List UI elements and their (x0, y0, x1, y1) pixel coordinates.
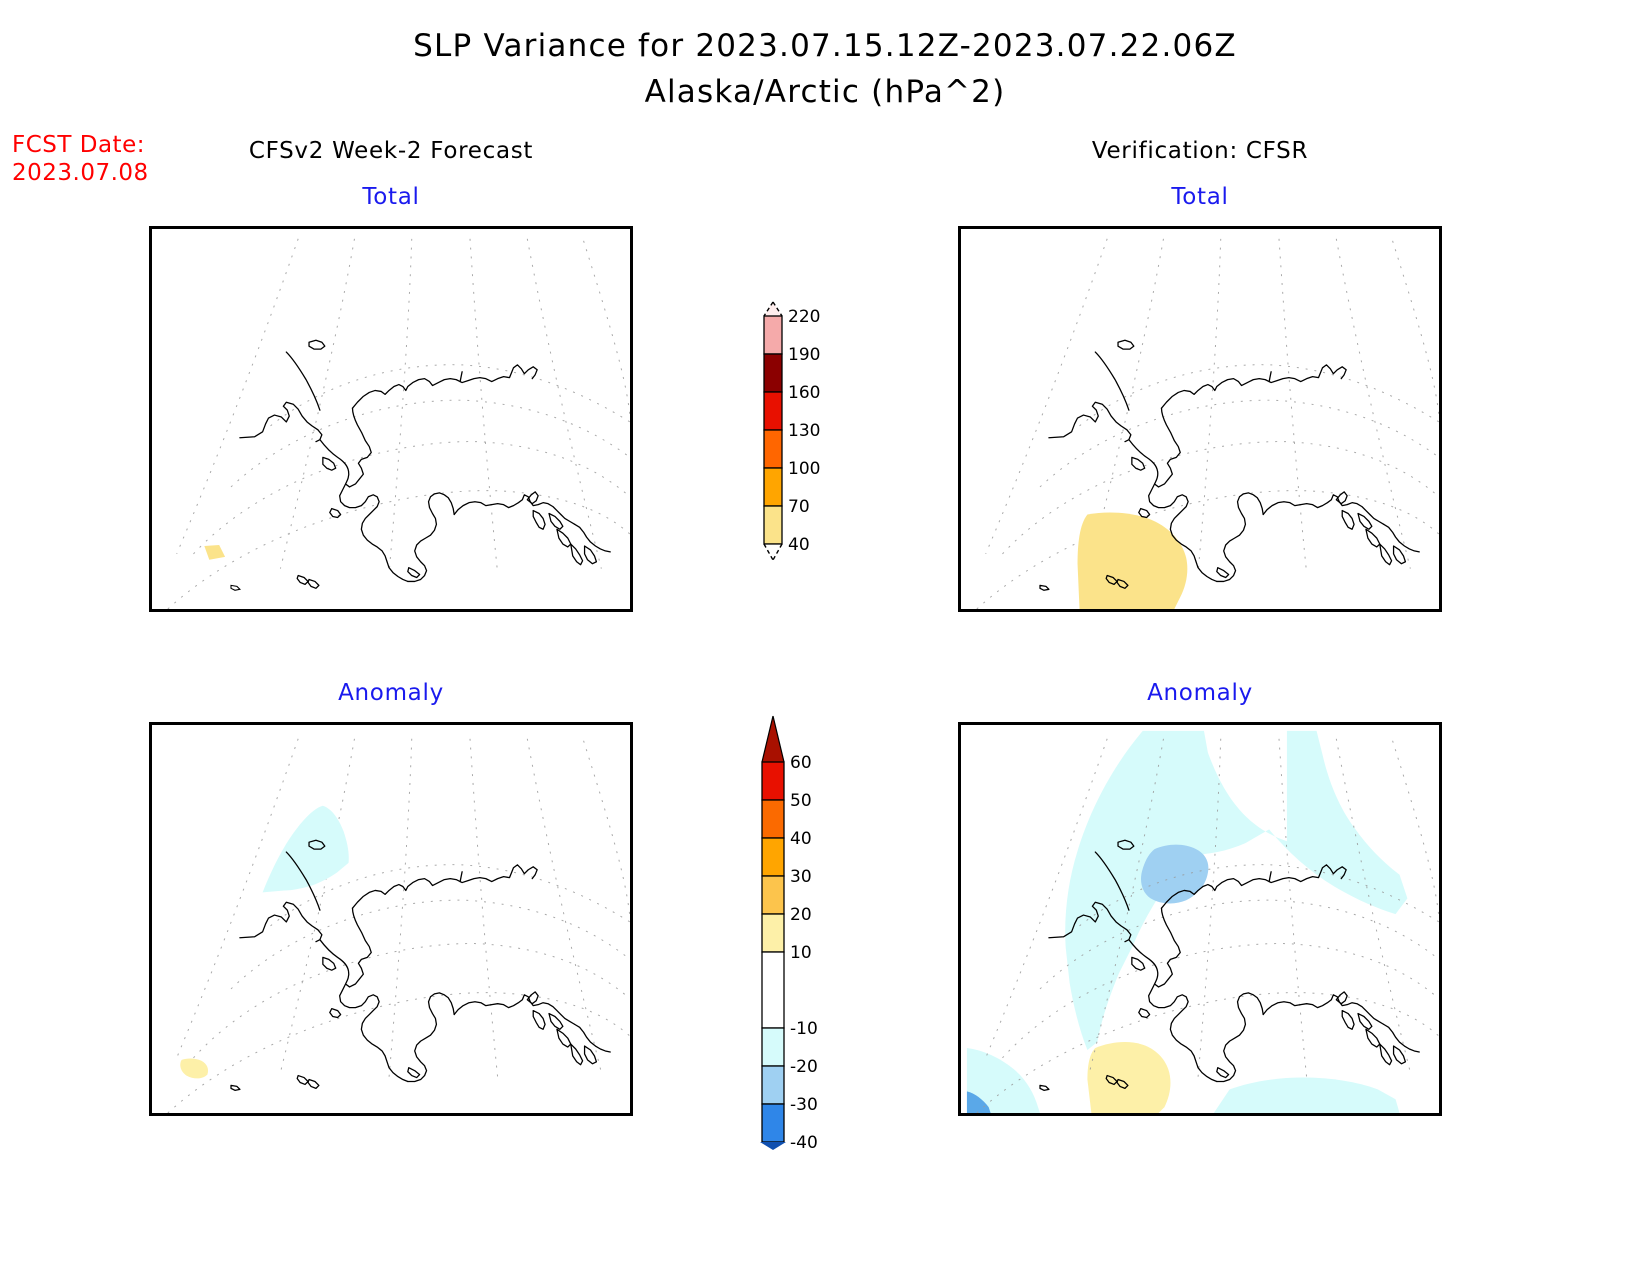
colorbar-total-ticks: 220 190 160 130 100 70 40 (788, 307, 820, 555)
cb-anom-tick-0: 60 (790, 753, 812, 773)
forecast-date: FCST Date: 2023.07.08 (12, 131, 149, 187)
anomaly-shading-layer (967, 731, 1407, 1113)
region-gulf-of-alaska-patch (1214, 1078, 1400, 1113)
cb-total-tick-1: 190 (788, 345, 820, 365)
cb-anom-tick-3: 30 (790, 867, 812, 887)
colorbar-anomaly: 60 50 40 30 20 10 -10 -20 -30 -40 (740, 700, 870, 1150)
region-arctic-broad-patch (1065, 731, 1407, 1050)
cb-anom-tick-4: 20 (790, 905, 812, 925)
graticule-layer (168, 239, 630, 609)
colorbar-total-bottom-arrow (764, 544, 782, 558)
forecast-column-header: CFSv2 Week-2 Forecast (149, 138, 633, 164)
cb-anom-tick-1: 50 (790, 791, 812, 811)
map-verification-total[interactable] (958, 226, 1442, 612)
colorbar-anomaly-top-arrow (762, 716, 784, 762)
cb-total-tick-5: 70 (788, 497, 810, 517)
map-verification-total-svg (961, 229, 1439, 609)
colorbar-total: 220 190 160 130 100 70 40 (740, 258, 870, 588)
cb-total-tick-6: 40 (788, 535, 810, 555)
region-southwest-aleutian-sliver (180, 1058, 208, 1078)
cb-anom-tick-2: 40 (790, 829, 812, 849)
map-forecast-total-svg (152, 229, 630, 609)
cb-total-tick-0: 220 (788, 307, 820, 327)
cb-anom-tick-9: -40 (790, 1133, 818, 1150)
map-forecast-total[interactable] (149, 226, 633, 612)
forecast-total-subtitle: Total (149, 184, 633, 210)
map-forecast-anomaly-svg (152, 725, 630, 1113)
page-title: SLP Variance for 2023.07.15.12Z-2023.07.… (0, 28, 1650, 64)
graticule-layer (977, 239, 1439, 609)
page-subtitle: Alaska/Arctic (hPa^2) (0, 74, 1650, 110)
colorbar-anomaly-ticks: 60 50 40 30 20 10 -10 -20 -30 -40 (790, 753, 818, 1150)
colorbar-anomaly-bands (762, 762, 784, 1142)
graticule-layer (168, 739, 630, 1113)
forecast-date-value: 2023.07.08 (12, 159, 149, 187)
region-bering-sea-yellow-patch (1087, 1042, 1170, 1113)
cb-anom-tick-5: 10 (790, 943, 812, 963)
map-verification-anomaly-svg (961, 725, 1439, 1113)
region-aleutian-southwest-patch (204, 545, 225, 560)
small-island-outline (231, 585, 240, 590)
variance-shading-layer (204, 545, 225, 560)
map-forecast-anomaly[interactable] (149, 722, 633, 1116)
forecast-date-label: FCST Date: (12, 131, 149, 159)
cb-total-tick-2: 160 (788, 383, 820, 403)
cb-anom-tick-7: -20 (790, 1057, 818, 1077)
colorbar-total-top-arrow (764, 302, 782, 316)
cb-anom-tick-8: -30 (790, 1095, 818, 1115)
cb-total-tick-4: 100 (788, 459, 820, 479)
cb-anom-tick-6: -10 (790, 1019, 818, 1039)
verification-anomaly-subtitle: Anomaly (958, 680, 1442, 706)
colorbar-anomaly-svg: 60 50 40 30 20 10 -10 -20 -30 -40 (740, 700, 870, 1150)
colorbar-total-bands (764, 316, 782, 544)
coastline-layer (240, 340, 610, 588)
map-verification-anomaly[interactable] (958, 722, 1442, 1116)
cb-total-tick-3: 130 (788, 421, 820, 441)
verification-total-subtitle: Total (958, 184, 1442, 210)
colorbar-total-svg: 220 190 160 130 100 70 40 (740, 258, 870, 588)
forecast-anomaly-subtitle: Anomaly (149, 680, 633, 706)
verification-column-header: Verification: CFSR (958, 138, 1442, 164)
